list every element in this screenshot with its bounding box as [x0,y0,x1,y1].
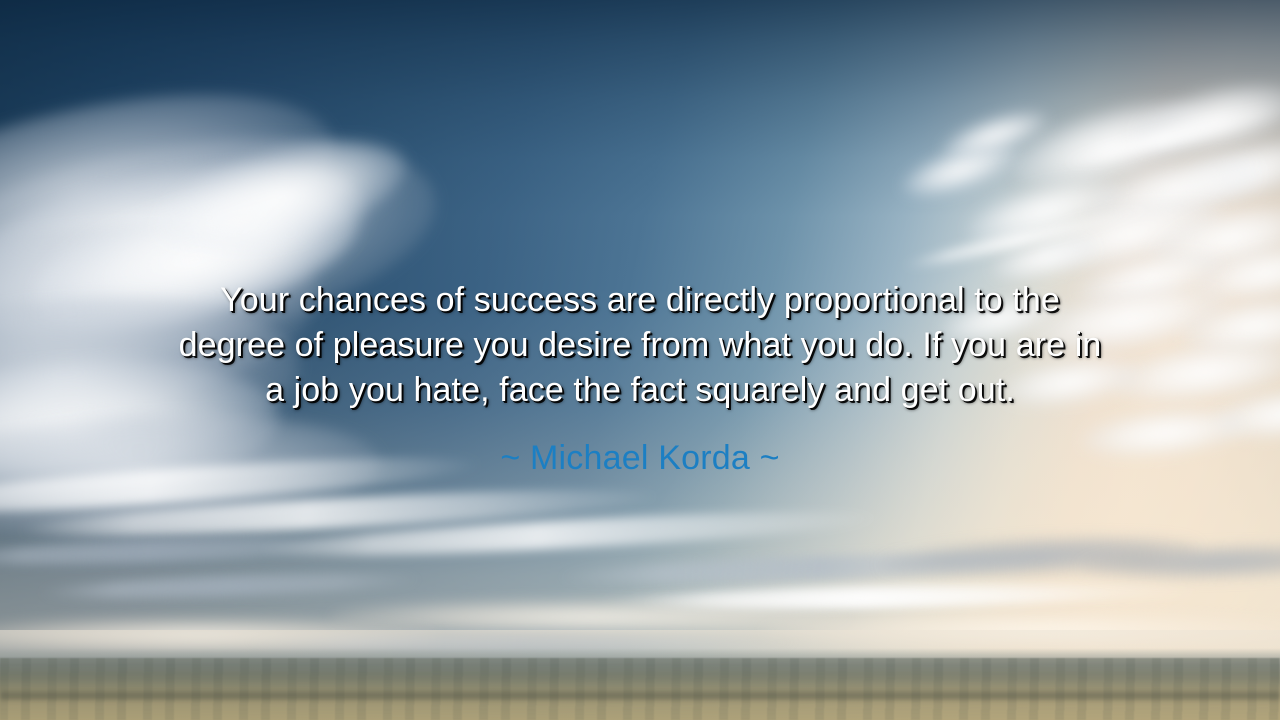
sunset-warm-glow [0,0,1280,720]
ground-dark-band [0,689,1280,702]
quote-wallpaper: Your chances of success are directly pro… [0,0,1280,720]
